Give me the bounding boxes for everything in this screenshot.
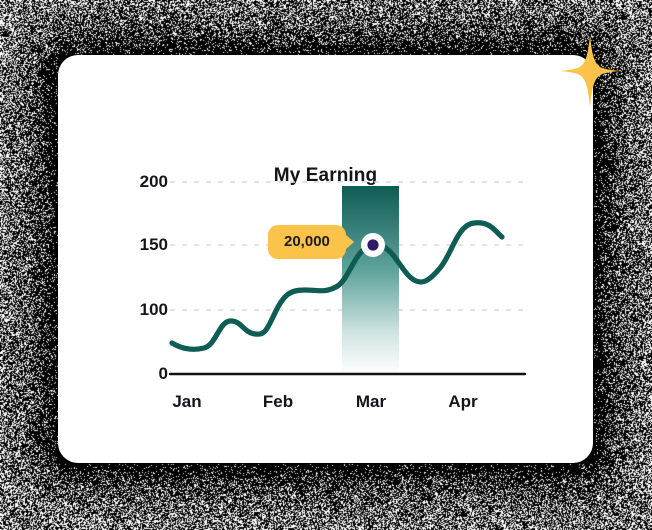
value-tooltip[interactable]: 20,000 [268, 225, 346, 259]
value-tooltip-arrow [345, 234, 354, 250]
x-axis: Jan Feb Mar Apr [58, 55, 593, 463]
x-axis-tick-jan: Jan [152, 392, 222, 412]
chart-card: My Earning [58, 55, 593, 463]
value-tooltip-label: 20,000 [268, 225, 346, 259]
x-axis-tick-feb: Feb [243, 392, 313, 412]
x-axis-tick-apr: Apr [428, 392, 498, 412]
x-axis-tick-mar: Mar [336, 392, 406, 412]
chart-plot-area: 200 150 100 0 Jan Feb Mar Apr 20,000 [58, 55, 593, 463]
